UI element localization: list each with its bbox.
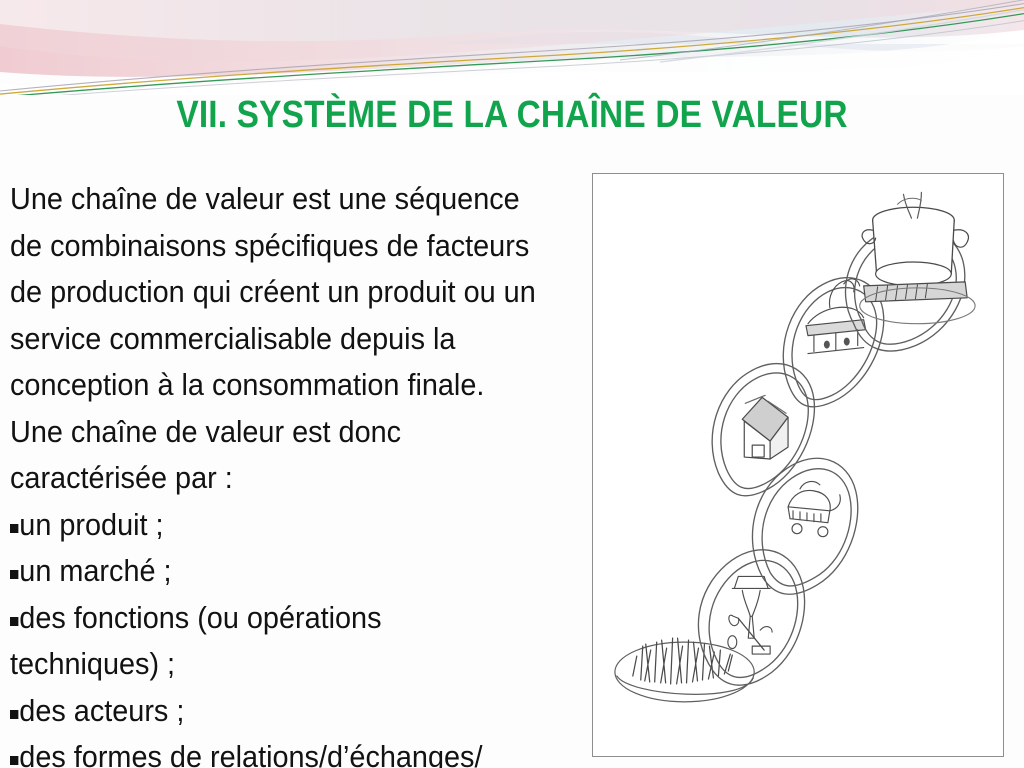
list-item: un marché ; <box>10 548 536 595</box>
bullet-square-icon <box>10 617 18 626</box>
chain-link-transport <box>752 458 857 594</box>
intro-paragraph: Une chaîne de valeur est une séquence de… <box>10 176 536 502</box>
wave-banner-graphic <box>0 0 1024 95</box>
list-item-label: un marché ; <box>19 553 171 588</box>
farmer-harvest-pictogram <box>728 576 772 654</box>
slide: VII. SYSTÈME DE LA CHAÎNE DE VALEUR Une … <box>0 0 1024 768</box>
bullet-square-icon <box>10 710 18 719</box>
bullet-square-icon <box>10 524 18 533</box>
list-item-label: des fonctions (ou opérations techniques)… <box>10 600 382 682</box>
value-chain-illustration <box>592 173 1004 757</box>
list-item-label: un produit ; <box>19 507 163 542</box>
wave-banner <box>0 0 1024 95</box>
list-item: des fonctions (ou opérations techniques)… <box>10 595 536 688</box>
list-item: un produit ; <box>10 502 536 549</box>
value-chain-drawing <box>593 174 1003 756</box>
cart-transport-pictogram <box>788 481 840 536</box>
list-item-label: des formes de relations/d’échanges/ cont… <box>10 739 482 768</box>
bullet-square-icon <box>10 756 18 765</box>
chain-link-harvest <box>698 550 804 685</box>
list-item: des acteurs ; <box>10 688 536 735</box>
list-item: des formes de relations/d’échanges/ cont… <box>10 734 536 768</box>
content-column: Une chaîne de valeur est une séquence de… <box>10 176 536 768</box>
bullet-square-icon <box>10 570 18 579</box>
characteristics-list: un produit ; un marché ; des fonctions (… <box>10 502 536 768</box>
field-plot-link <box>615 642 754 702</box>
house-store-pictogram <box>742 395 788 459</box>
page-title: VII. SYSTÈME DE LA CHAÎNE DE VALEUR <box>61 94 962 136</box>
list-item-label: des acteurs ; <box>19 693 184 728</box>
